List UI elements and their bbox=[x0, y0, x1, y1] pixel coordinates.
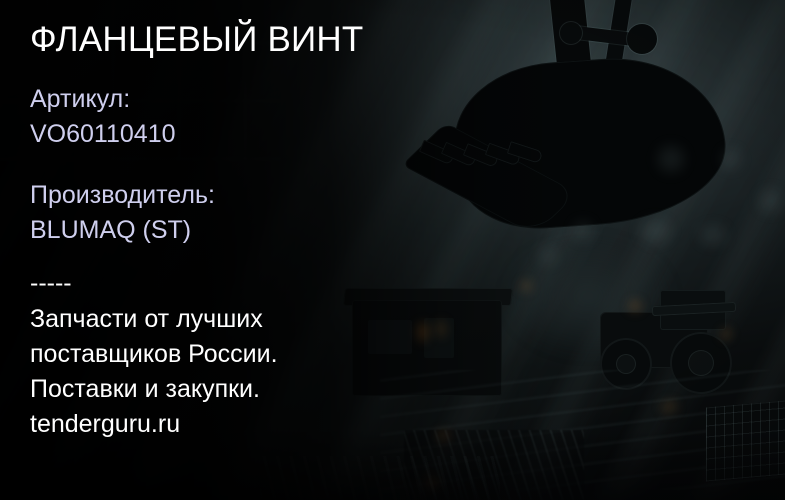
promo-line-2: поставщиков России. bbox=[30, 337, 278, 372]
article-label: Артикул: bbox=[30, 85, 130, 113]
promo-line-1: Запчасти от лучших bbox=[30, 302, 278, 337]
manufacturer-field: Производитель: BLUMAQ (ST) bbox=[30, 178, 215, 248]
promo-website: tenderguru.ru bbox=[30, 407, 278, 442]
promo-text-block: Запчасти от лучших поставщиков России. П… bbox=[30, 302, 278, 442]
article-value: VO60110410 bbox=[30, 117, 176, 152]
article-field: Артикул: VO60110410 bbox=[30, 82, 176, 152]
product-title: ФЛАНЦЕВЫЙ ВИНТ bbox=[30, 20, 363, 60]
manufacturer-value: BLUMAQ (ST) bbox=[30, 213, 215, 248]
manufacturer-label: Производитель: bbox=[30, 181, 215, 209]
product-banner-card: ФЛАНЦЕВЫЙ ВИНТ Артикул: VO60110410 Произ… bbox=[0, 0, 785, 500]
promo-line-3: Поставки и закупки. bbox=[30, 372, 278, 407]
dash-divider: ----- bbox=[30, 268, 72, 298]
banner-text-content: ФЛАНЦЕВЫЙ ВИНТ Артикул: VO60110410 Произ… bbox=[30, 0, 500, 500]
